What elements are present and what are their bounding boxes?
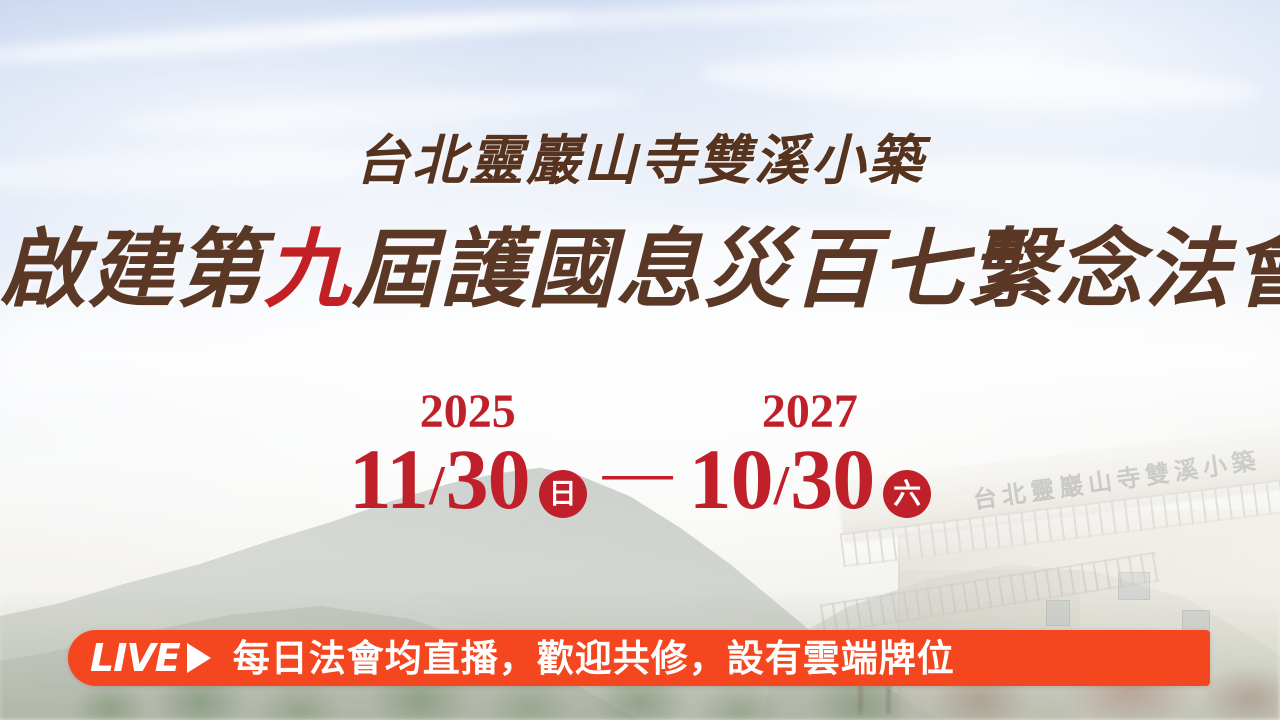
start-weekday-badge: 日: [539, 470, 587, 518]
end-month: 10: [689, 438, 773, 521]
temple-name-title: 台北靈巖山寺雙溪小築: [0, 116, 1280, 195]
live-banner-message: 每日法會均直播，歡迎共修，設有雲端牌位: [233, 640, 955, 677]
event-headline: 啟建第九屆護國息災百七繫念法會: [0, 226, 1280, 314]
start-month: 11: [349, 438, 428, 521]
headline-part-1: 啟建第: [0, 219, 264, 320]
start-date-row: 11 / 30 日: [349, 438, 587, 523]
end-date-separator: /: [774, 458, 790, 514]
play-icon: [187, 643, 211, 673]
live-label: LIVE: [90, 639, 180, 677]
date-range-dash: —: [603, 437, 673, 507]
event-date-range: 2025 11 / 30 日 — 2027 10 / 30 六: [0, 388, 1280, 523]
end-date-row: 10 / 30 六: [689, 438, 932, 523]
end-weekday-badge: 六: [883, 470, 931, 518]
headline-accent-ordinal: 九: [264, 219, 352, 320]
start-day: 30: [446, 438, 530, 521]
end-year: 2027: [762, 388, 858, 436]
live-stream-banner[interactable]: LIVE 每日法會均直播，歡迎共修，設有雲端牌位: [68, 630, 1210, 686]
start-year: 2025: [420, 388, 516, 436]
end-day: 30: [790, 438, 874, 521]
poster-content: 台北靈巖山寺雙溪小築 啟建第九屆護國息災百七繫念法會 2025 11 / 30 …: [0, 0, 1280, 720]
date-end: 2027 10 / 30 六: [689, 388, 932, 523]
event-poster: 台北靈巖山寺雙溪小築 台北靈巖山寺雙溪小築 啟建第九屆護國息災百七繫念法會 20…: [0, 0, 1280, 720]
date-start: 2025 11 / 30 日: [349, 388, 587, 523]
live-tag: LIVE: [90, 639, 211, 677]
start-date-separator: /: [429, 458, 445, 514]
headline-part-2: 屆護國息災百七繫念法會: [352, 219, 1280, 320]
